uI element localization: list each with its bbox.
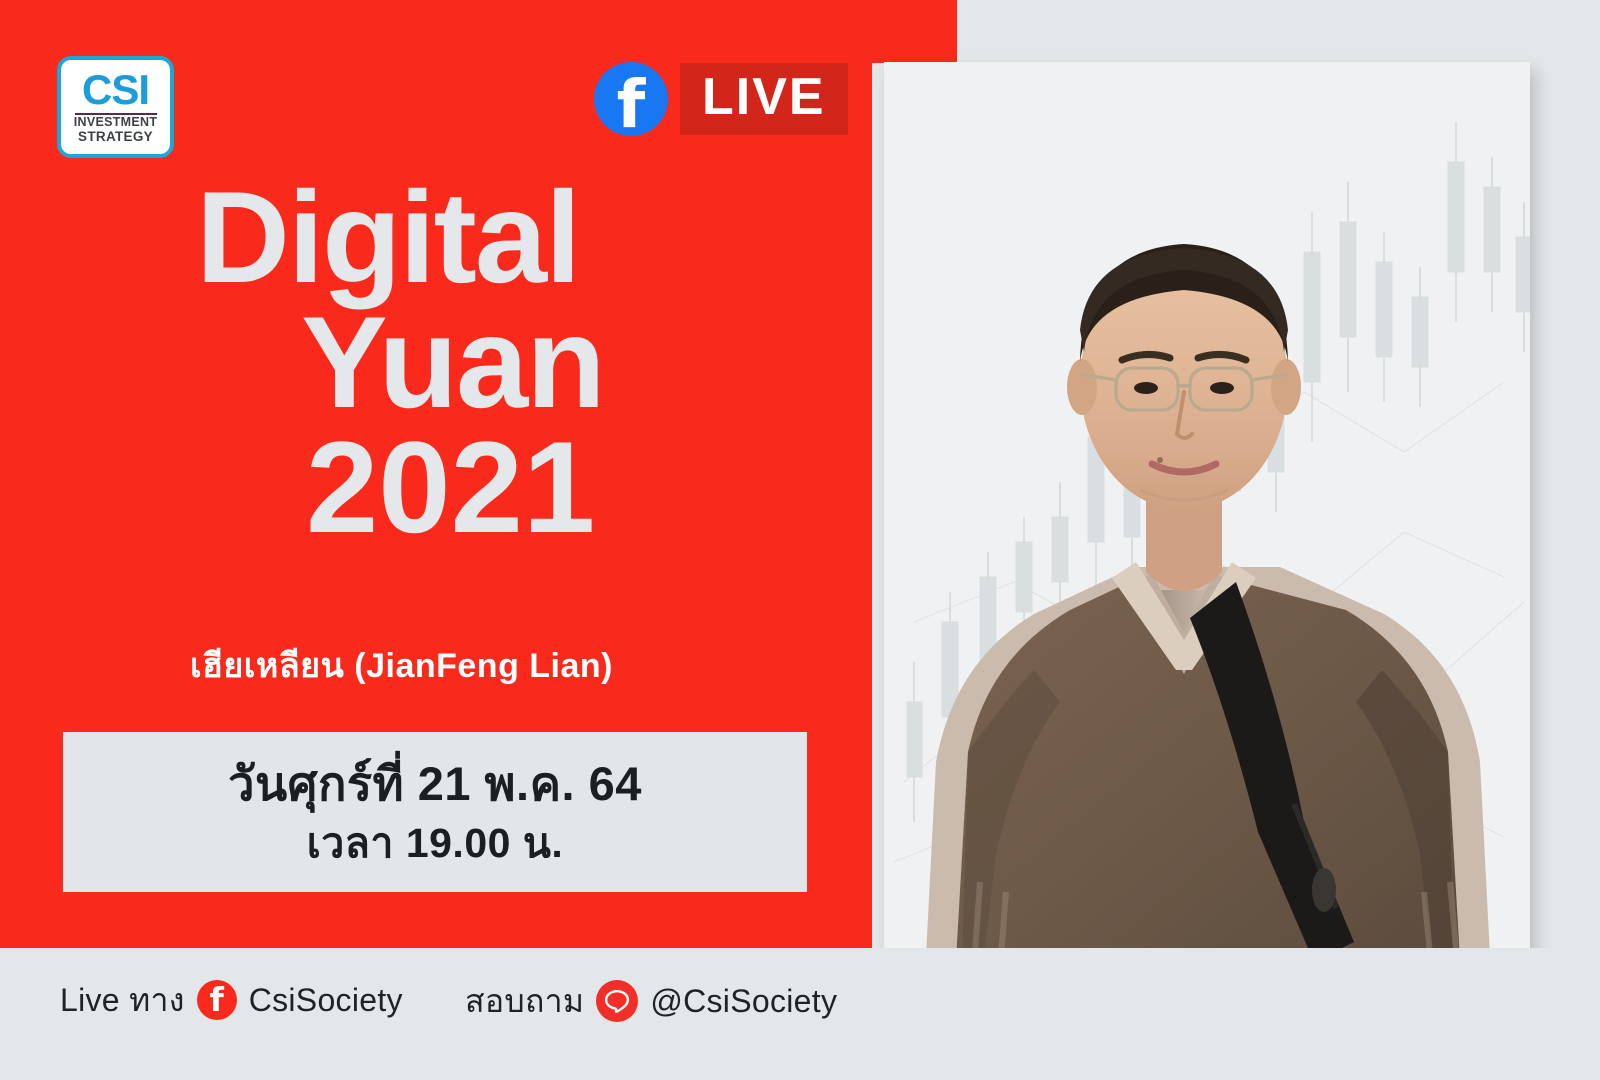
csi-logo-mark: CSI (82, 70, 149, 110)
headline-line-3: 2021 (306, 425, 896, 550)
facebook-f-glyph: f (197, 983, 237, 1017)
footer-live-label: Live ทาง (60, 980, 185, 1020)
event-date: วันศุกร์ที่ 21 พ.ค. 64 (228, 753, 642, 815)
footer-contact-label: สอบถาม (465, 981, 584, 1021)
footer-facebook-handle[interactable]: CsiSociety (249, 980, 403, 1020)
event-date-box: วันศุกร์ที่ 21 พ.ค. 64 เวลา 19.00 น. (63, 732, 807, 892)
svg-text:LINE: LINE (609, 996, 626, 1005)
footer-line-row: สอบถาม LINE @CsiSociety (465, 980, 837, 1022)
facebook-f-glyph: f (594, 72, 668, 136)
line-icon[interactable]: LINE (596, 980, 638, 1022)
csi-logo: CSI INVESTMENT STRATEGY (57, 56, 174, 158)
poster-canvas: CSI INVESTMENT STRATEGY f LIVE Digital Y… (0, 0, 1600, 1080)
footer: Live ทาง f CsiSociety สอบถาม LINE @CsiSo… (0, 948, 1600, 1080)
headline-line-1: Digital (196, 175, 896, 300)
line-icon-glyph: LINE (600, 984, 634, 1018)
live-badge: LIVE (680, 63, 848, 135)
facebook-icon[interactable]: f (197, 980, 237, 1020)
event-time: เวลา 19.00 น. (307, 815, 563, 871)
page-title: Digital Yuan 2021 (196, 175, 896, 550)
csi-logo-tagline-line1: INVESTMENT (74, 116, 158, 129)
headline-line-2: Yuan (301, 300, 896, 425)
speaker-portrait (884, 62, 1530, 995)
footer-line-handle[interactable]: @CsiSociety (650, 981, 837, 1021)
facebook-live-badge: f LIVE (594, 62, 848, 136)
footer-facebook-row: Live ทาง f CsiSociety (60, 980, 403, 1020)
facebook-icon: f (594, 62, 668, 136)
speaker-name: เฮียเหลียน (JianFeng Lian) (190, 645, 890, 687)
speaker-photo-panel (884, 62, 1530, 995)
live-badge-label: LIVE (702, 69, 826, 125)
csi-logo-tagline-line2: STRATEGY (78, 129, 153, 144)
